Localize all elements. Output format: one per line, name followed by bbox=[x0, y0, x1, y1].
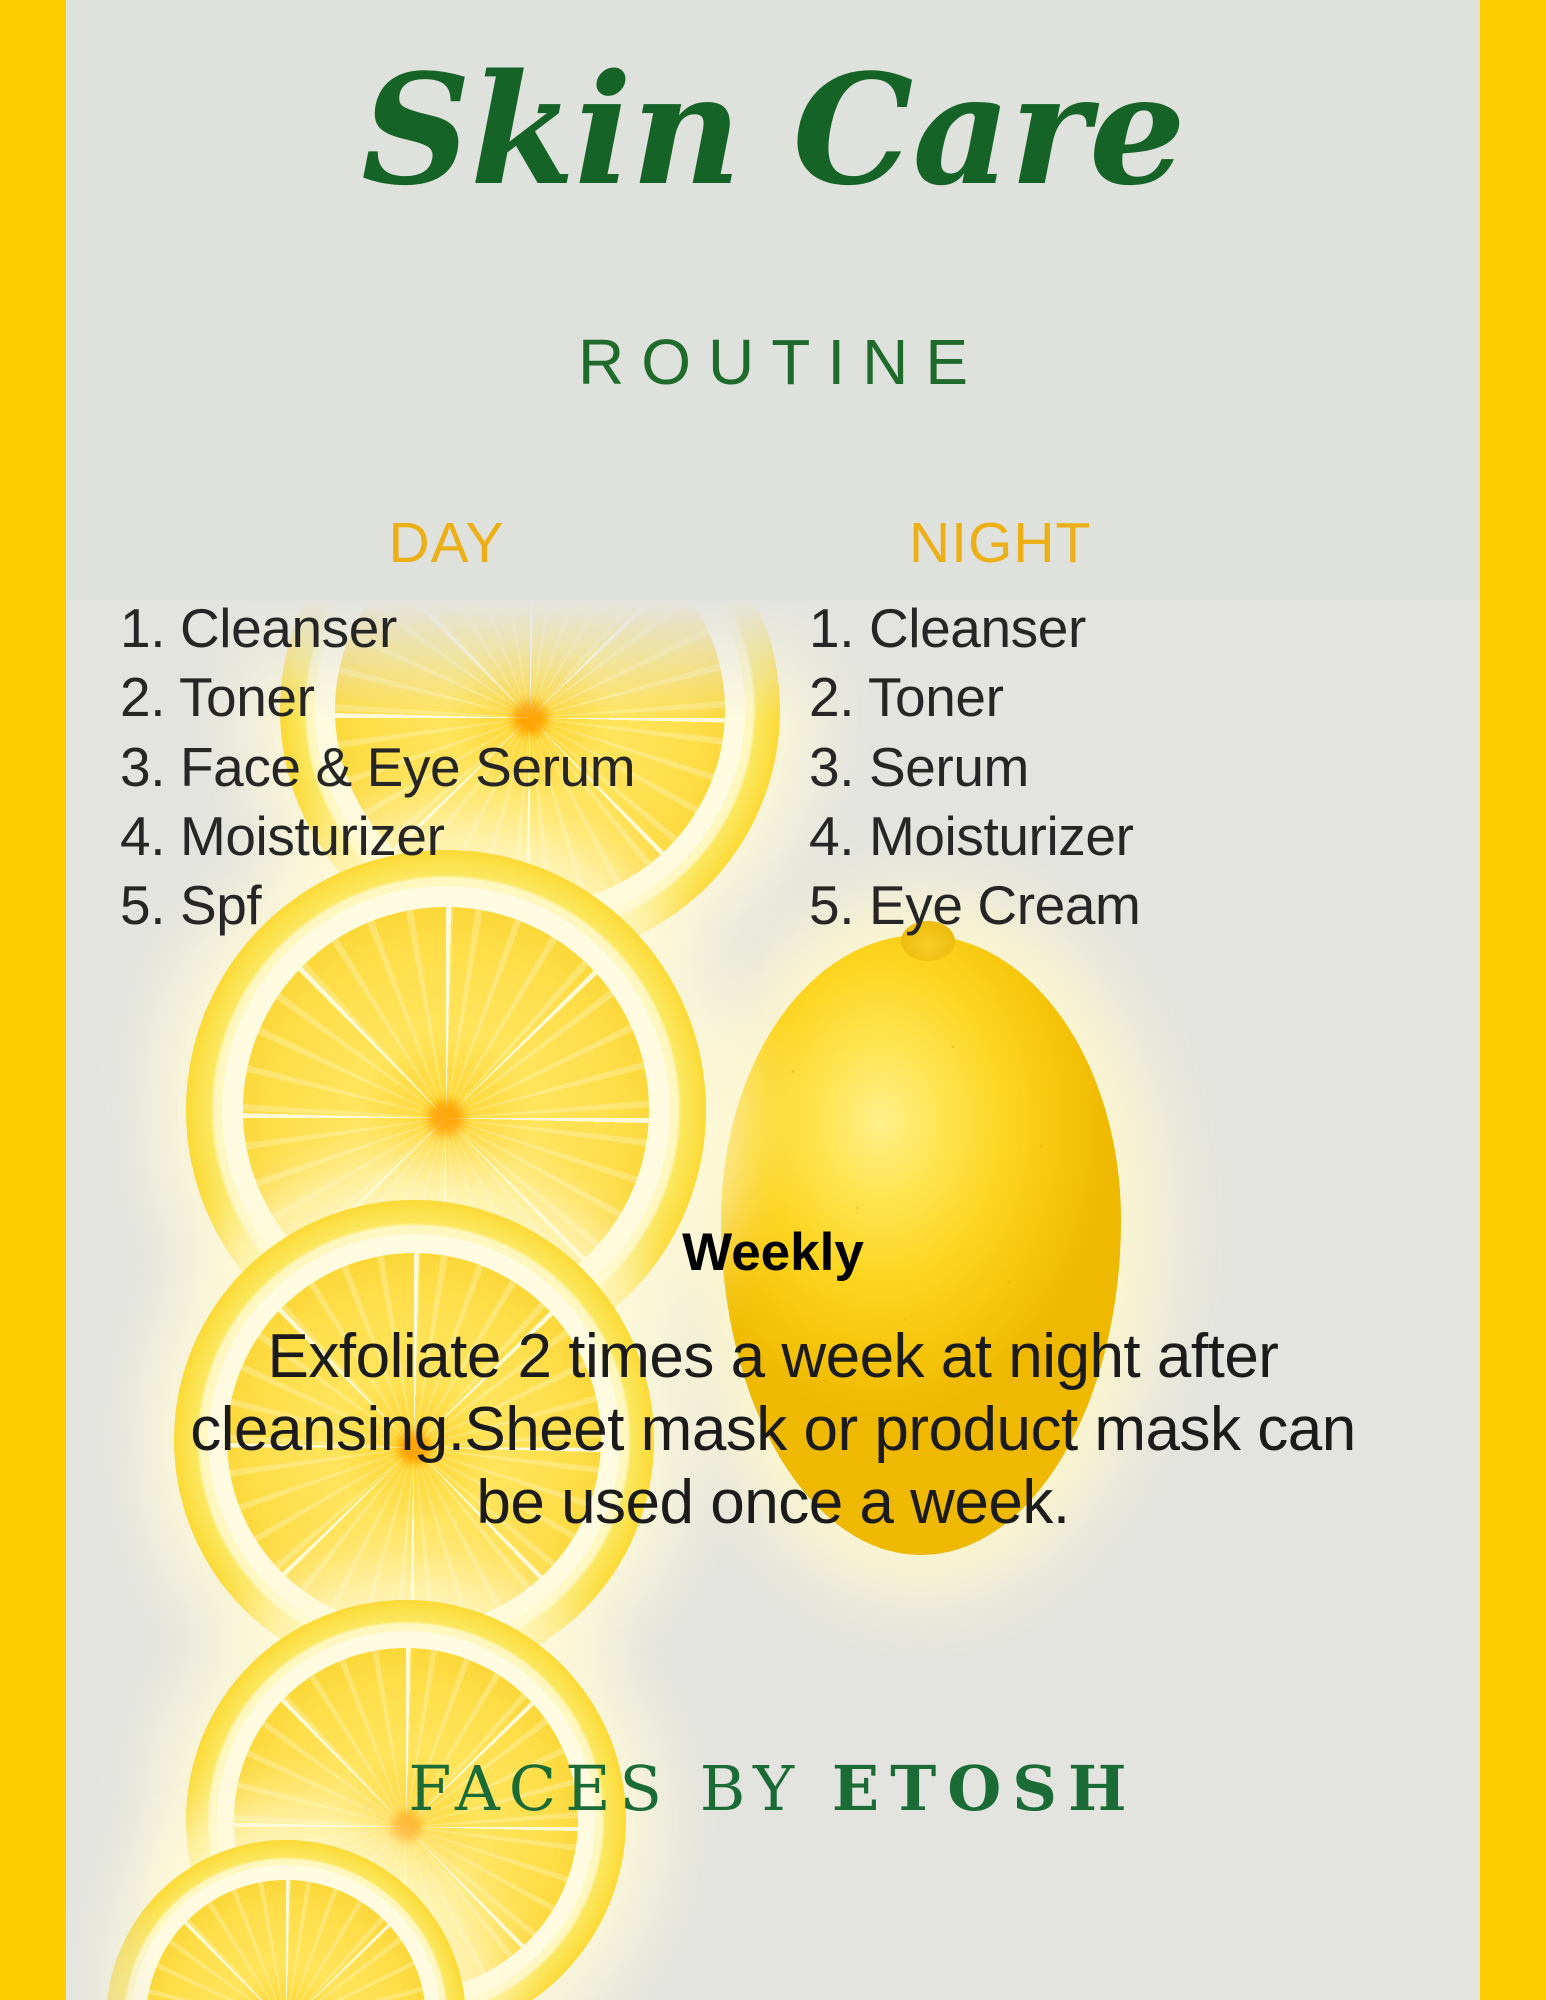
brand-logo-name: ETOSH bbox=[832, 1752, 1138, 1825]
page-title: Skin Care bbox=[0, 52, 1546, 207]
list-item: 3. Face & Eye Serum bbox=[120, 733, 773, 802]
day-routine-list: 1. Cleanser 2. Toner 3. Face & Eye Serum… bbox=[120, 594, 773, 940]
left-border-bar bbox=[0, 0, 66, 2000]
night-routine-list: 1. Cleanser 2. Toner 3. Serum 4. Moistur… bbox=[809, 594, 1426, 940]
day-routine-column: DAY 1. Cleanser 2. Toner 3. Face & Eye S… bbox=[120, 510, 773, 940]
brand-logo-prefix: FACES BY bbox=[408, 1752, 831, 1825]
routine-columns: DAY 1. Cleanser 2. Toner 3. Face & Eye S… bbox=[120, 510, 1426, 940]
list-item: 2. Toner bbox=[809, 663, 1426, 732]
brand-logo: FACES BY ETOSH bbox=[0, 1752, 1546, 1825]
list-item: 1. Cleanser bbox=[120, 594, 773, 663]
night-routine-column: NIGHT 1. Cleanser 2. Toner 3. Serum 4. M… bbox=[773, 510, 1426, 940]
list-item: 1. Cleanser bbox=[809, 594, 1426, 663]
list-item: 2. Toner bbox=[120, 663, 773, 732]
list-item: 4. Moisturizer bbox=[809, 802, 1426, 871]
list-item: 3. Serum bbox=[809, 733, 1426, 802]
skincare-routine-poster: Skin Care ROUTINE DAY 1. Cleanser 2. Ton… bbox=[0, 0, 1546, 2000]
poster-content: Skin Care ROUTINE DAY 1. Cleanser 2. Ton… bbox=[0, 0, 1546, 2000]
list-item: 4. Moisturizer bbox=[120, 802, 773, 871]
list-item: 5. Spf bbox=[120, 871, 773, 940]
weekly-heading: Weekly bbox=[0, 1222, 1546, 1283]
right-border-bar bbox=[1480, 0, 1546, 2000]
night-column-heading: NIGHT bbox=[809, 510, 1426, 576]
page-subtitle: ROUTINE bbox=[0, 325, 1546, 399]
list-item: 5. Eye Cream bbox=[809, 871, 1426, 940]
day-column-heading: DAY bbox=[120, 510, 773, 576]
weekly-description: Exfoliate 2 times a week at night after … bbox=[150, 1320, 1396, 1539]
